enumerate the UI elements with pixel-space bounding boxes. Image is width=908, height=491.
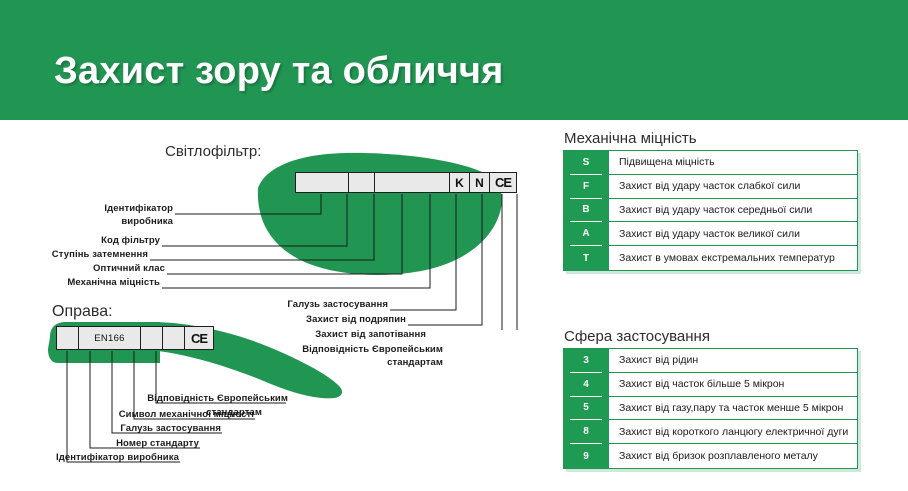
lens-label-mechanical-strength: Механічна міцність <box>12 277 160 288</box>
frame-marking-diagram: EN166 CE Відповідність Європейським стан… <box>40 315 380 485</box>
table-row: 8 Захист від короткого ланцюгу електричн… <box>564 420 857 444</box>
scope-of-application-heading: Сфера застосування <box>564 328 710 345</box>
lens-shape-graphic <box>140 150 520 280</box>
row-code: 5 <box>564 397 608 420</box>
row-description: Захист від удару часток слабкої сили <box>608 175 857 198</box>
table-row: F Захист від удару часток слабкої сили <box>564 175 857 199</box>
frame-marking-strip: EN166 CE <box>56 326 214 350</box>
frame-label-ce-conformity: Відповідність Європейським <box>140 393 288 404</box>
lens-label-filter-code: Код фільтру <box>12 235 160 246</box>
table-row: A Захист від удару часток великої сили <box>564 222 857 246</box>
row-code: 3 <box>564 349 608 372</box>
row-code: B <box>564 199 608 222</box>
lens-label-manufacturer-identifier: Ідентифікатор <box>25 203 173 214</box>
mechanical-strength-table: S Підвищена міцність F Захист від удару … <box>563 150 858 271</box>
mark-cell-scratch-resistance: K <box>450 173 470 192</box>
frame-label-manufacturer-identifier: Ідентифікатор виробника <box>35 452 179 463</box>
row-code: 4 <box>564 373 608 396</box>
frame-label-mechanical-strength-symbol: Символ механічної міцності <box>110 409 254 420</box>
scope-of-application-table: 3 Захист від рідин 4 Захист від часток б… <box>563 348 858 469</box>
row-code: T <box>564 246 608 270</box>
lens-label-shade-level: Ступінь затемнення <box>0 249 148 260</box>
table-row: T Захист в умовах екстремальних температ… <box>564 246 857 270</box>
row-description: Захист від рідин <box>608 349 857 372</box>
table-row: B Захист від удару часток середньої сили <box>564 199 857 223</box>
mechanical-strength-heading: Механічна міцність <box>564 130 697 147</box>
frame-mark-cell-ce-conformity: CE <box>185 327 213 349</box>
row-code: 9 <box>564 444 608 468</box>
page-title: Захист зору та обличчя <box>54 50 504 93</box>
row-code: F <box>564 175 608 198</box>
row-code: A <box>564 222 608 245</box>
lens-label-manufacturer-identifier-line2: виробника <box>25 216 173 227</box>
row-description: Захист від удару часток середньої сили <box>608 199 857 222</box>
row-description: Захист від удару часток великої сили <box>608 222 857 245</box>
frame-mark-cell-manufacturer-identifier <box>57 327 79 349</box>
mark-cell-fog-resistance: N <box>470 173 490 192</box>
row-description: Захист в умовах екстремальних температур <box>608 246 857 270</box>
lens-marking-diagram: K N CE Ідентифікатор виробника Код фільт… <box>140 150 520 325</box>
row-description: Підвищена міцність <box>608 151 857 174</box>
lens-label-optical-class: Оптичний клас <box>17 263 165 274</box>
row-description: Захист від газу,пару та часток менше 5 м… <box>608 397 857 420</box>
table-row: 9 Захист від бризок розплавленого металу <box>564 444 857 468</box>
table-row: S Підвищена міцність <box>564 151 857 175</box>
mark-cell-shade-optical-class <box>375 173 450 192</box>
frame-label-scope-of-application: Галузь застосування <box>95 423 221 434</box>
lens-marking-strip: K N CE <box>295 172 517 193</box>
frame-mark-cell-scope-of-use <box>141 327 163 349</box>
row-code: S <box>564 151 608 174</box>
lens-label-scope-of-application: Галузь застосування <box>250 299 388 310</box>
table-row: 4 Захист від часток більше 5 мікрон <box>564 373 857 397</box>
mark-cell-ce-conformity: CE <box>490 173 516 192</box>
row-description: Захист від короткого ланцюгу електричної… <box>608 420 857 443</box>
row-code: 8 <box>564 420 608 443</box>
frame-mark-cell-standard-number: EN166 <box>79 327 141 349</box>
row-description: Захист від бризок розплавленого металу <box>608 444 857 468</box>
table-row: 5 Захист від газу,пару та часток менше 5… <box>564 397 857 421</box>
table-row: 3 Захист від рідин <box>564 349 857 373</box>
mark-cell-manufacturer-identifier <box>296 173 349 192</box>
row-description: Захист від часток більше 5 мікрон <box>608 373 857 396</box>
mark-cell-filter-code <box>349 173 375 192</box>
frame-label-standard-number: Номер стандарту <box>68 438 199 449</box>
frame-mark-cell-mechanical-strength <box>163 327 185 349</box>
